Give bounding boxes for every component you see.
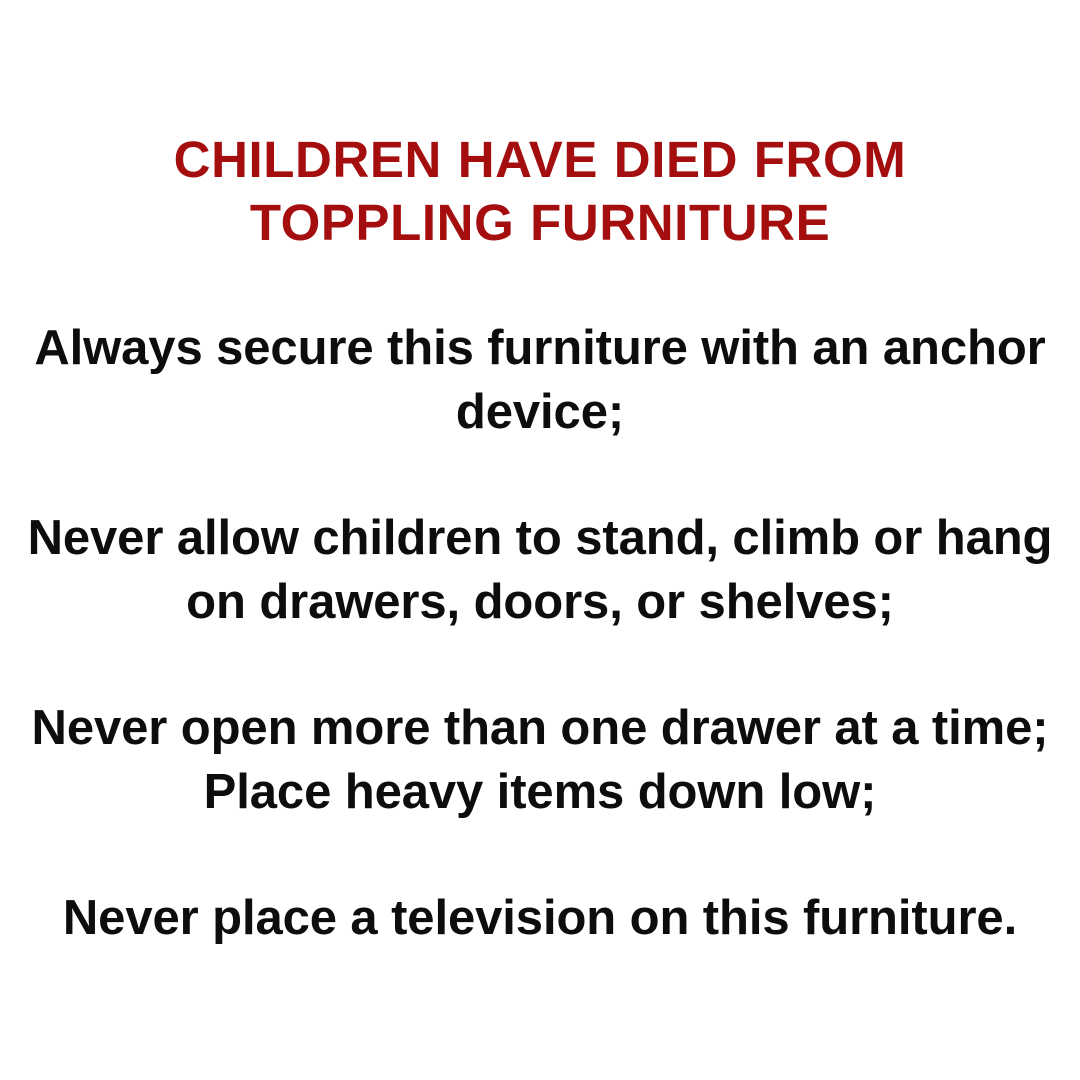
instruction-item-no-television: Never place a television on this furnitu… [14, 886, 1066, 950]
instruction-item-anchor-device: Always secure this furniture with an anc… [14, 316, 1066, 444]
instruction-item-one-drawer: Never open more than one drawer at a tim… [14, 696, 1066, 824]
page-title: CHILDREN HAVE DIED FROM TOPPLING FURNITU… [0, 128, 1080, 254]
safety-warning-poster: CHILDREN HAVE DIED FROM TOPPLING FURNITU… [0, 0, 1080, 1080]
instruction-list: Always secure this furniture with an anc… [0, 316, 1080, 950]
instruction-item-no-climbing: Never allow children to stand, climb or … [14, 506, 1066, 634]
